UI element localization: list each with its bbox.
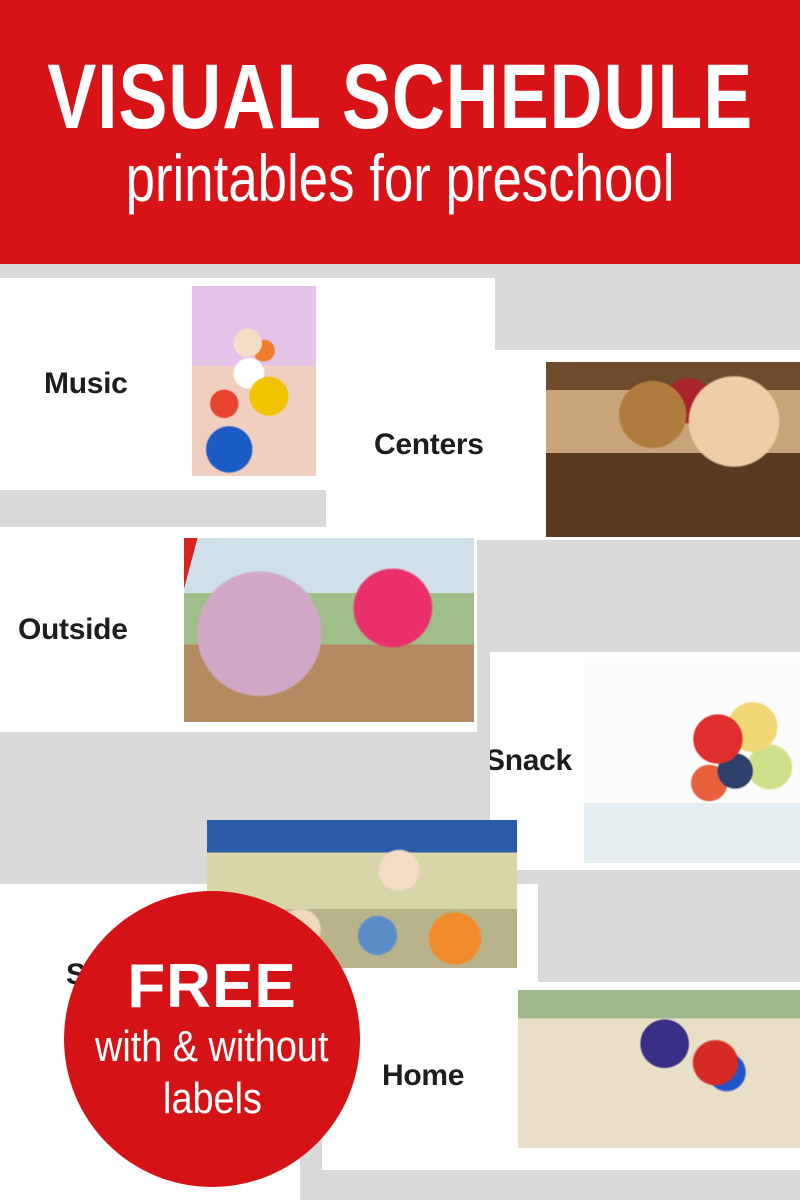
schedule-card-label: Snack — [490, 744, 572, 778]
schedule-card-label: Music — [44, 367, 128, 401]
page-title: VISUAL SCHEDULE — [47, 53, 753, 141]
free-badge-headline: FREE — [127, 956, 296, 1018]
schedule-card-label: Outside — [18, 613, 128, 647]
header-banner: VISUAL SCHEDULE printables for preschool — [0, 0, 800, 264]
schedule-card-label: Home — [382, 1059, 464, 1093]
fruit-bowl-photo — [584, 663, 800, 863]
parent-child-crosswalk-photo — [518, 990, 800, 1148]
free-badge-line-1: with & without — [95, 1024, 328, 1070]
child-beads-test-tubes-photo — [546, 362, 800, 537]
free-badge-line-2: labels — [163, 1076, 262, 1122]
playground-swing-rings-photo — [184, 538, 474, 722]
preschool-music-class-photo — [192, 286, 316, 476]
page-subtitle: printables for preschool — [126, 145, 675, 211]
schedule-card-label: Centers — [374, 428, 484, 462]
pinterest-pin-graphic: VISUAL SCHEDULE printables for preschool… — [0, 0, 800, 1200]
free-badge: FREE with & without labels — [64, 891, 360, 1187]
